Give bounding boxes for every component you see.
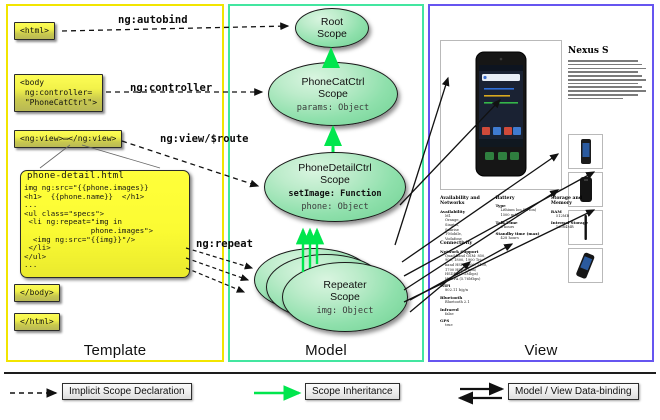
spec-value: Bluetooth 2.1	[440, 300, 489, 305]
description-line	[568, 98, 623, 100]
thumbnail-item[interactable]	[568, 134, 603, 169]
ng-autobind-label: ng:autobind	[118, 14, 188, 26]
repeater-scope: Repeater Scope img: Object	[282, 262, 408, 332]
spec-value: false	[440, 312, 489, 317]
description-line	[568, 90, 646, 92]
rendered-view-page: Nexus S Availability and Networks	[436, 18, 648, 336]
html-open-tag: <html>	[14, 22, 55, 40]
phonedetailctrl-prop-setimage: setImage: Function	[288, 189, 381, 199]
phonecatctrl-scope-title: PhoneCatCtrl Scope	[301, 76, 364, 100]
legend-divider	[4, 372, 656, 374]
description-line	[568, 64, 642, 66]
html-close-tag: </html>	[14, 313, 60, 331]
phonecatctrl-prop-params: params: Object	[297, 103, 369, 113]
legend-implicit-scope-declaration: Implicit Scope Declaration	[62, 383, 192, 400]
root-scope-title: Root Scope	[317, 16, 347, 40]
column-label-view: View	[430, 342, 652, 359]
body-open-tag: <body ng:controller= "PhoneCatCtrl">	[14, 74, 103, 112]
description-line	[568, 86, 642, 88]
root-scope-line2: Scope	[317, 28, 347, 40]
spec-value: HSUPA (5.76Mbps)	[440, 277, 489, 282]
phonedetailctrl-line2: Scope	[320, 174, 350, 186]
spec-column: Battery Type Lithium Ion (Li-Ion) 1500 m…	[495, 196, 544, 241]
phonecatctrl-scope: PhoneCatCtrl Scope params: Object	[268, 62, 398, 126]
spec-value: 512MB	[551, 214, 600, 219]
spec-column: Availability and Networks Availability M…	[440, 196, 489, 241]
body-close-tag: </body>	[14, 284, 60, 302]
note-code: img ng:src="{{phone.images}} <h1> {{phon…	[24, 184, 186, 270]
spec-heading: Battery	[495, 196, 544, 201]
spec-value: 6 hours	[495, 225, 544, 230]
spec-value: 802.11 b/g/n	[440, 288, 489, 293]
phone-detail-template-note: phone-detail.html img ng:src="{{phone.im…	[20, 170, 190, 278]
legend-scope-inheritance: Scope Inheritance	[305, 383, 400, 400]
description-line	[568, 75, 642, 77]
legend-data-binding: Model / View Data-binding	[508, 383, 639, 400]
repeater-scope-title: Repeater Scope	[323, 279, 366, 303]
spec-value: band HSPA: 900, 2100,	[440, 263, 489, 268]
spec-heading-l2: Networks	[440, 201, 464, 206]
description-line	[568, 79, 646, 81]
spec-value: 1500 mAh	[495, 213, 544, 218]
spec-heading: Storage and Memory	[551, 196, 600, 207]
phone-hero-image-frame	[440, 40, 562, 190]
ng-view-tag: <ng:view>▭</ng:view>	[14, 130, 122, 148]
product-title: Nexus S	[568, 46, 609, 56]
spec-value: 16384MB	[551, 225, 600, 230]
phonecatctrl-line1: PhoneCatCtrl	[301, 76, 364, 88]
description-line	[568, 71, 638, 73]
phonedetailctrl-line1: PhoneDetailCtrl	[298, 162, 372, 174]
repeater-prop-img: img: Object	[317, 306, 374, 316]
note-title: phone-detail.html	[27, 171, 124, 181]
phonedetailctrl-scope-title: PhoneDetailCtrl Scope	[298, 162, 372, 186]
spec-table: Availability and Networks Availability M…	[440, 196, 646, 328]
repeater-line2: Scope	[330, 291, 360, 303]
phonedetailctrl-prop-phone: phone: Object	[301, 202, 368, 212]
description-line	[568, 60, 638, 62]
spec-column: Storage and Memory RAM 512MB Internal St…	[551, 196, 600, 230]
column-label-template: Template	[8, 342, 222, 359]
repeater-scope-stack: Repeater Scope img: Object	[254, 240, 406, 332]
repeater-line1: Repeater	[323, 279, 366, 291]
description-line	[568, 68, 646, 70]
phone-hero-image	[475, 51, 527, 177]
ng-repeat-label: ng:repeat	[196, 238, 253, 250]
root-scope: Root Scope	[295, 8, 369, 48]
diagram-canvas: Template Model View <html> <body ng:cont…	[0, 0, 660, 420]
spec-value: true	[440, 323, 489, 328]
spec-heading: Connectivity	[440, 241, 489, 246]
product-description	[568, 60, 646, 102]
description-line	[568, 83, 638, 85]
root-scope-line1: Root	[321, 16, 343, 28]
phonecatctrl-line2: Scope	[318, 88, 348, 100]
description-line	[568, 94, 638, 96]
column-label-model: Model	[230, 342, 422, 359]
phonedetailctrl-scope: PhoneDetailCtrl Scope setImage: Function…	[264, 152, 406, 222]
spec-heading: Availability and Networks	[440, 196, 489, 207]
spec-column: Connectivity Network Support Quad-band G…	[440, 241, 489, 327]
ng-view-route-label: ng:view/$route	[160, 133, 249, 145]
ng-controller-label: ng:controller	[130, 82, 212, 94]
spec-value: 428 hours	[495, 236, 544, 241]
